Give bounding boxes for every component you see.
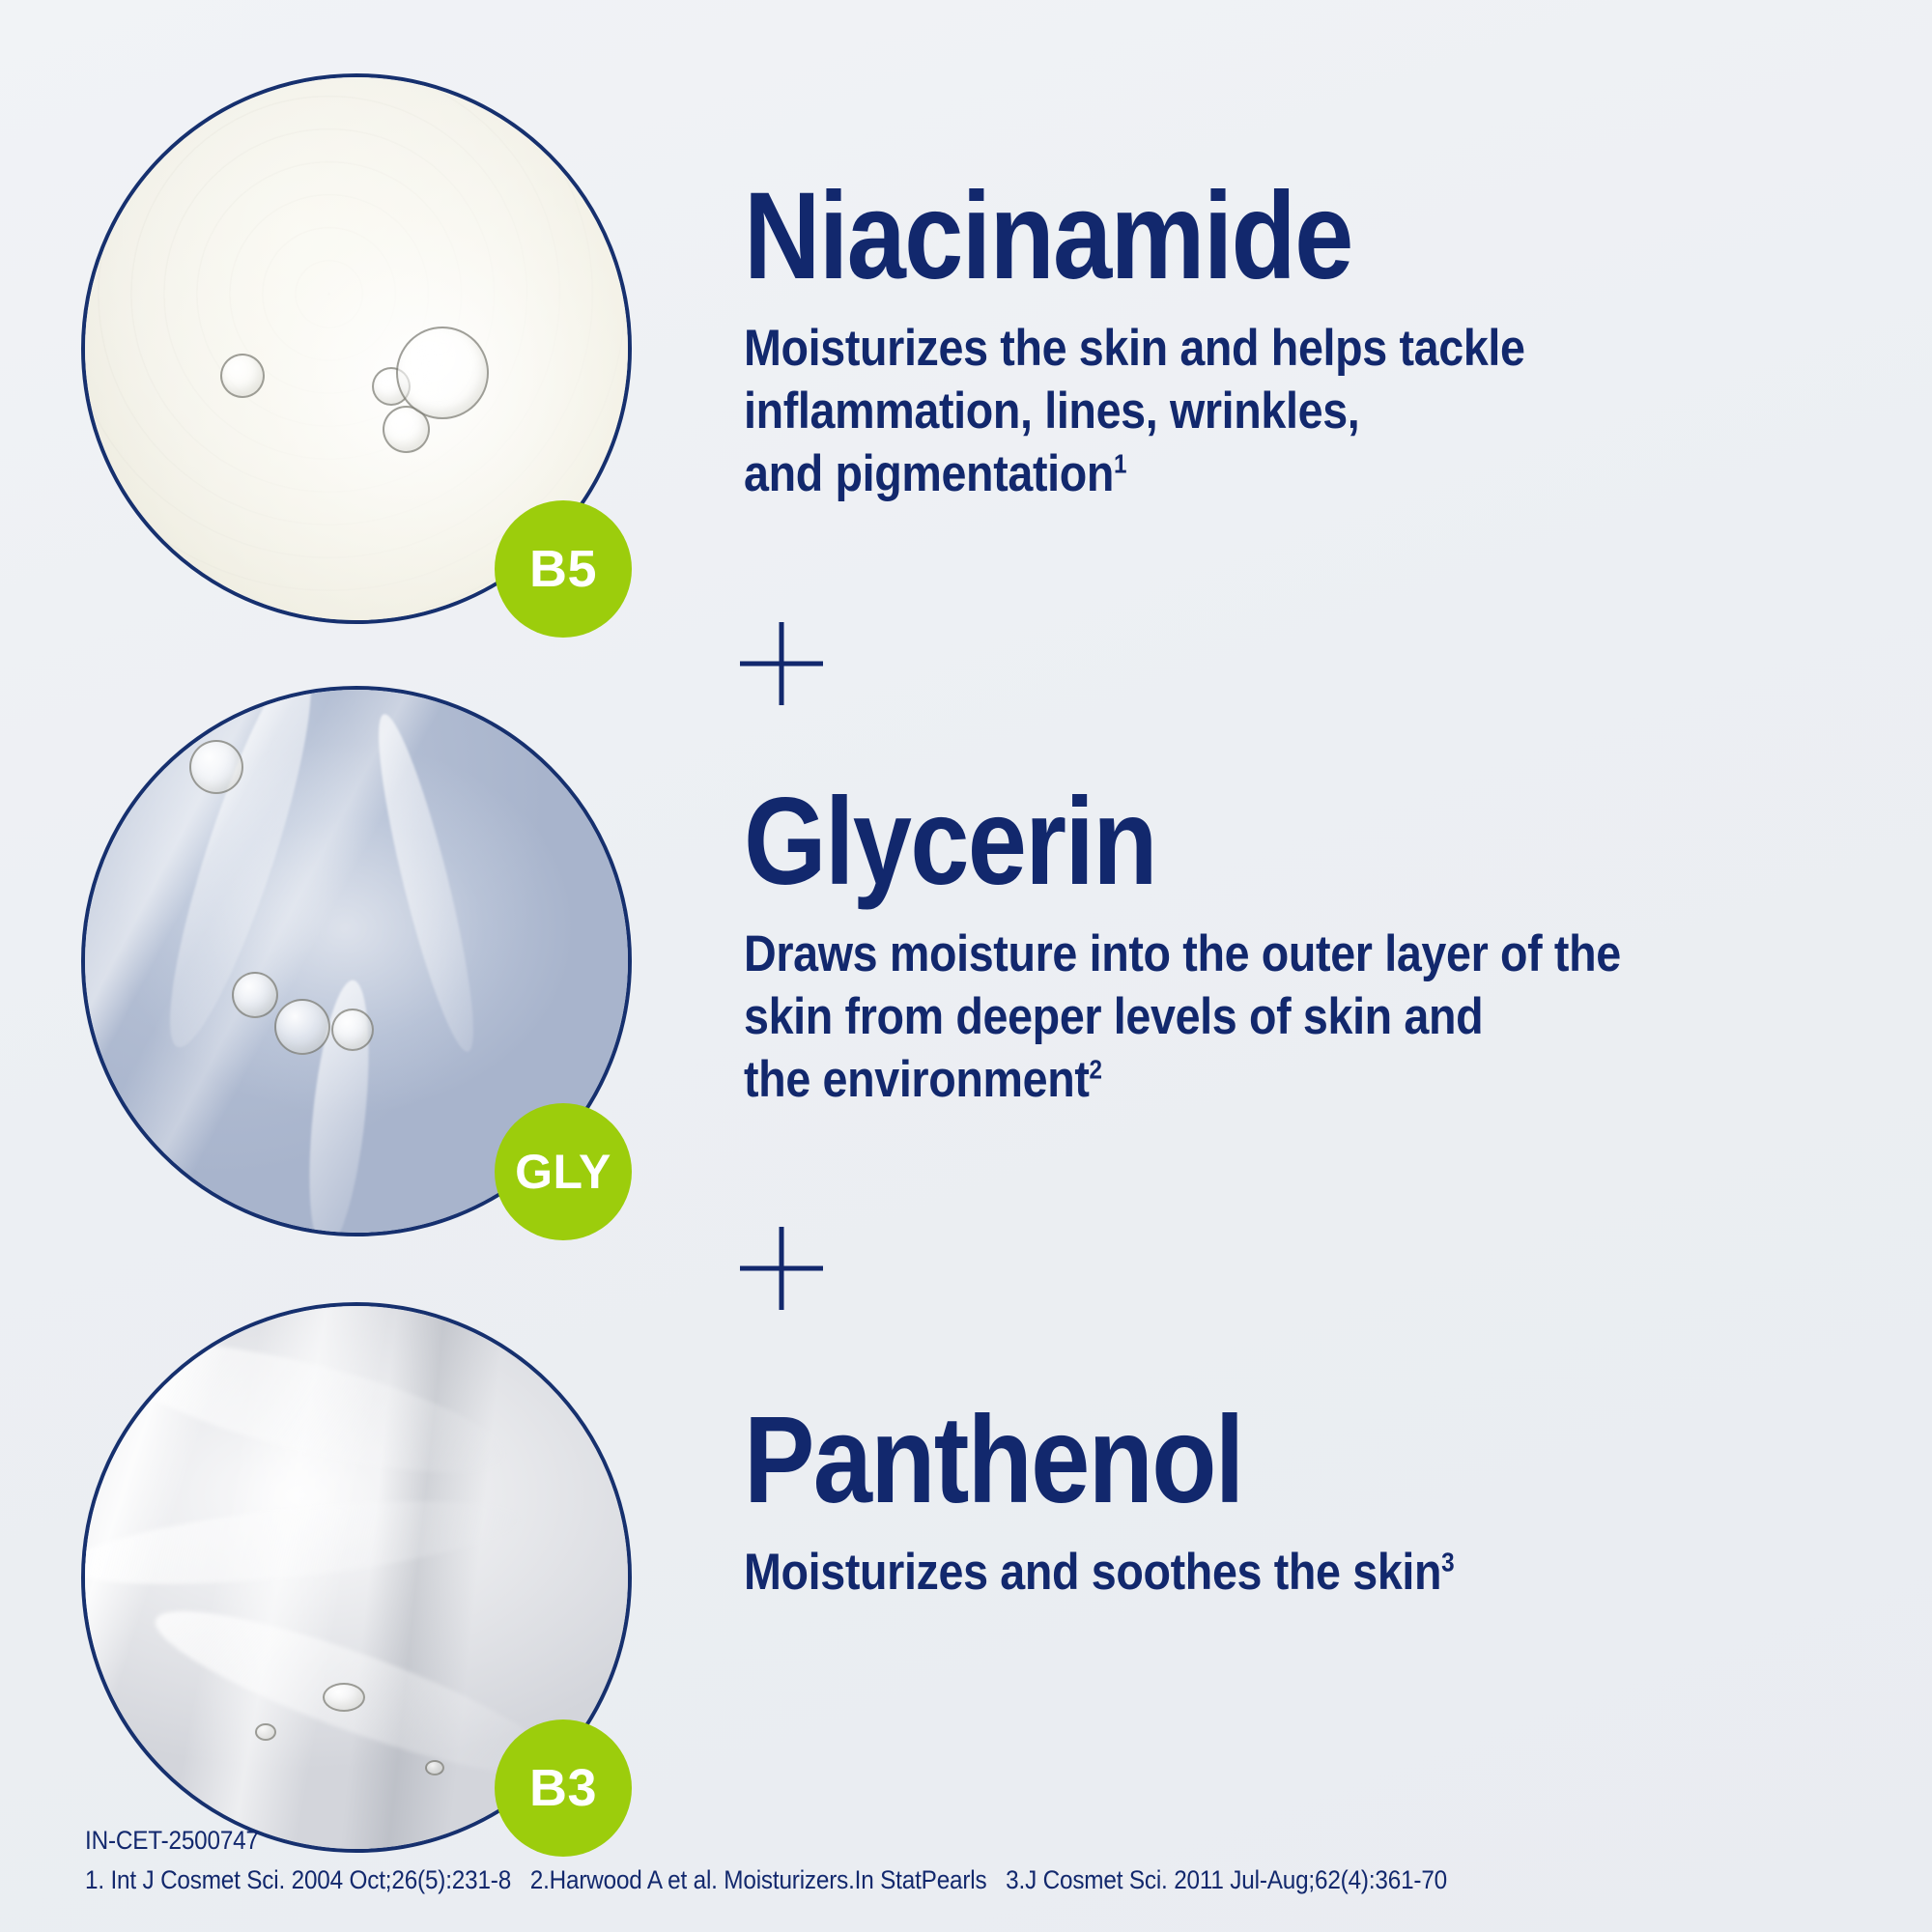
bubble-large <box>396 327 489 419</box>
footnote-marker-2: 2 <box>1090 1054 1102 1084</box>
footer-code: IN-CET-2500747 <box>85 1826 1447 1856</box>
ingredient-infographic: B5 Niacinamide Moisturizes the skin and … <box>0 0 1932 1932</box>
description-line-text: Moisturizes and soothes the skin <box>744 1544 1441 1601</box>
bubble-strand-d <box>331 1009 374 1051</box>
description-line: Moisturizes the skin and helps tackle <box>744 318 1525 381</box>
title-niacinamide: Niacinamide <box>744 179 1507 295</box>
badge-gly-label: GLY <box>515 1148 611 1196</box>
description-line: skin from deeper levels of skin and <box>744 986 1621 1049</box>
badge-b5-label: B5 <box>529 543 597 595</box>
description-line-last: Moisturizes and soothes the skin3 <box>744 1542 1454 1605</box>
badge-gly: GLY <box>495 1103 632 1240</box>
description-line-text: and pigmentation <box>744 445 1114 502</box>
description-line: inflammation, lines, wrinkles, <box>744 381 1525 443</box>
bubble-strand-a <box>189 740 243 794</box>
description-line-text: the environment <box>744 1051 1090 1108</box>
footer: IN-CET-2500747 1. Int J Cosmet Sci. 2004… <box>85 1826 1447 1895</box>
bubble-swirl-a <box>323 1683 365 1712</box>
bubble-small <box>220 354 265 398</box>
ingredient-text-niacinamide: Niacinamide Moisturizes the skin and hel… <box>744 179 1632 505</box>
plus-separator-1-icon <box>740 622 823 705</box>
description-line: Draws moisture into the outer layer of t… <box>744 923 1621 986</box>
title-glycerin: Glycerin <box>744 784 1601 900</box>
footnote-marker-1: 1 <box>1114 448 1126 478</box>
ingredient-text-glycerin: Glycerin Draws moisture into the outer l… <box>744 784 1741 1111</box>
description-panthenol: Moisturizes and soothes the skin3 <box>744 1542 1454 1605</box>
plus-separator-2-icon <box>740 1227 823 1310</box>
bubble-swirl-b <box>255 1723 276 1741</box>
bubble-swirl-c <box>425 1760 444 1776</box>
description-glycerin: Draws moisture into the outer layer of t… <box>744 923 1621 1111</box>
bubble-strand-c <box>274 999 330 1055</box>
description-line-last: and pigmentation1 <box>744 443 1525 506</box>
badge-b5: B5 <box>495 500 632 638</box>
ingredient-text-panthenol: Panthenol Moisturizes and soothes the sk… <box>744 1403 1551 1605</box>
description-line-last: the environment2 <box>744 1049 1621 1112</box>
title-panthenol: Panthenol <box>744 1403 1438 1519</box>
badge-b3-label: B3 <box>529 1762 597 1814</box>
bubble-strand-b <box>232 972 278 1018</box>
description-niacinamide: Moisturizes the skin and helps tackle in… <box>744 318 1525 505</box>
footnote-marker-3: 3 <box>1441 1548 1454 1577</box>
footer-references: 1. Int J Cosmet Sci. 2004 Oct;26(5):231-… <box>85 1865 1447 1895</box>
